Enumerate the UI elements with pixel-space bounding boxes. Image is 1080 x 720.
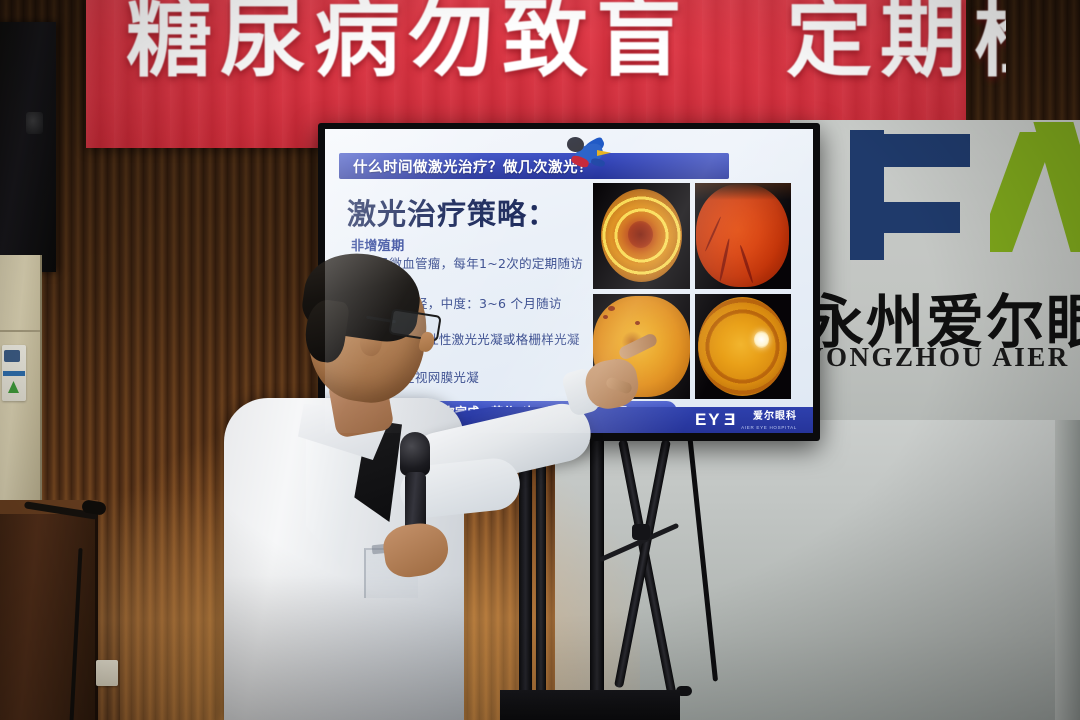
aier-eye-wordmark-text: EYE <box>695 410 735 429</box>
red-banner-text: 糖尿病勿致盲 定期检查 <box>86 0 1006 90</box>
aier-eye-wordmark: EYE <box>695 410 735 430</box>
red-banner-text-right: 定期检查 <box>786 0 1006 90</box>
fundus-photo-red-retina <box>695 183 792 289</box>
slide-title: 什么时间做激光治疗？做几次激光？ <box>353 156 593 177</box>
red-banner-text-left: 糖尿病勿致盲 <box>126 0 690 90</box>
desk-microphone-stand <box>24 495 96 543</box>
cabinet-sticker-icon <box>2 345 26 401</box>
slide-heading: 激光治疗策略： <box>347 191 557 233</box>
aier-y-logo-icon <box>990 122 1080 252</box>
doctor-presenter <box>214 248 644 720</box>
grey-wall-edge <box>1055 380 1080 720</box>
kingfisher-bird-icon <box>565 133 621 177</box>
backdrop-corporate-banner: 永州爱尔眼科 YONGZHOU AIER <box>790 120 1080 420</box>
presentation-photo-scene: 糖尿病勿致盲 定期检查 永州爱尔眼科 YONGZHOU AIER <box>0 0 1080 720</box>
slide-title-bar: 什么时间做激光治疗？做几次激光？ <box>339 153 729 179</box>
cabinet-seam <box>0 330 40 332</box>
aier-logo-sub: AIER EYE HOSPITAL <box>741 425 797 430</box>
aier-e-logo-icon <box>850 130 970 260</box>
fundus-photo-panretinal-photocoagulation <box>695 294 792 400</box>
backdrop-name-en: YONGZHOU AIER <box>804 342 1070 373</box>
loudspeaker <box>0 22 56 272</box>
microphone-grille-icon <box>400 432 430 476</box>
wall-outlet-icon <box>96 660 118 686</box>
speaker-cone-icon <box>26 112 43 134</box>
aier-logo-cn: 爱尔眼科 <box>753 407 797 422</box>
